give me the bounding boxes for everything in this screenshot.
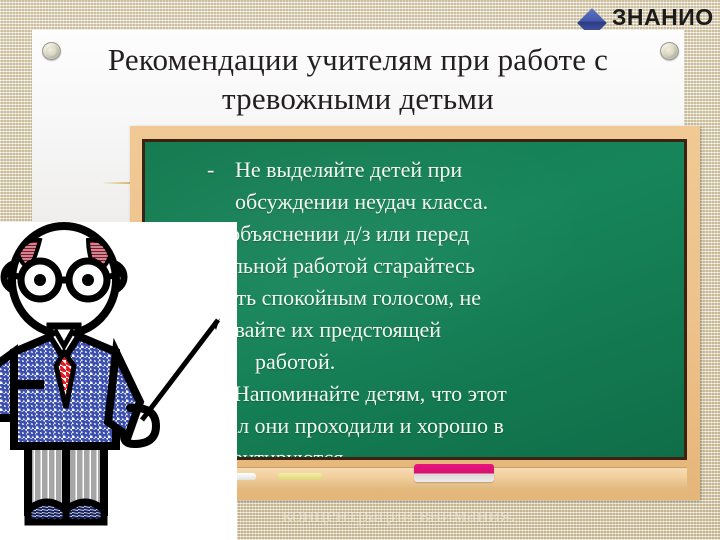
board-line-3: При объяснении д/з или перед [163, 218, 676, 250]
slide-canvas: ЗНАНИО znanio.ru Рекомендации учителям п… [0, 0, 720, 540]
board-eraser-icon [414, 464, 494, 482]
teacher-illustration-card [0, 222, 237, 540]
board-line-1-text: Не выделяйте детей при [235, 157, 462, 182]
board-line-10: ориентируются. [163, 442, 676, 457]
yellow-chalk-icon [278, 473, 322, 480]
board-line-7: работой. [163, 346, 676, 378]
board-line-5: говорить спокойным голосом, не [163, 282, 676, 314]
chalkboard-text-block: -Не выделяйте детей при обсуждении неуда… [163, 154, 676, 457]
teacher-figure-icon [0, 222, 237, 540]
board-line-1: -Не выделяйте детей при [163, 154, 676, 186]
page-title: Рекомендации учителям при работе с трево… [32, 40, 684, 118]
board-line-9: материал они проходили и хорошо в [163, 410, 676, 442]
board-line-8: - Напоминайте детям, что этот [163, 378, 676, 410]
brand-name: ЗНАНИО [612, 6, 714, 29]
board-line-4: контрольной работой старайтесь [163, 250, 676, 282]
bullet-dash-icon: - [207, 154, 214, 186]
board-overflow-line: концентрации внимания. [238, 500, 720, 530]
board-line-2: обсуждении неудач класса. [163, 186, 676, 218]
board-line-6: пугивайте их предстоящей [163, 314, 676, 346]
